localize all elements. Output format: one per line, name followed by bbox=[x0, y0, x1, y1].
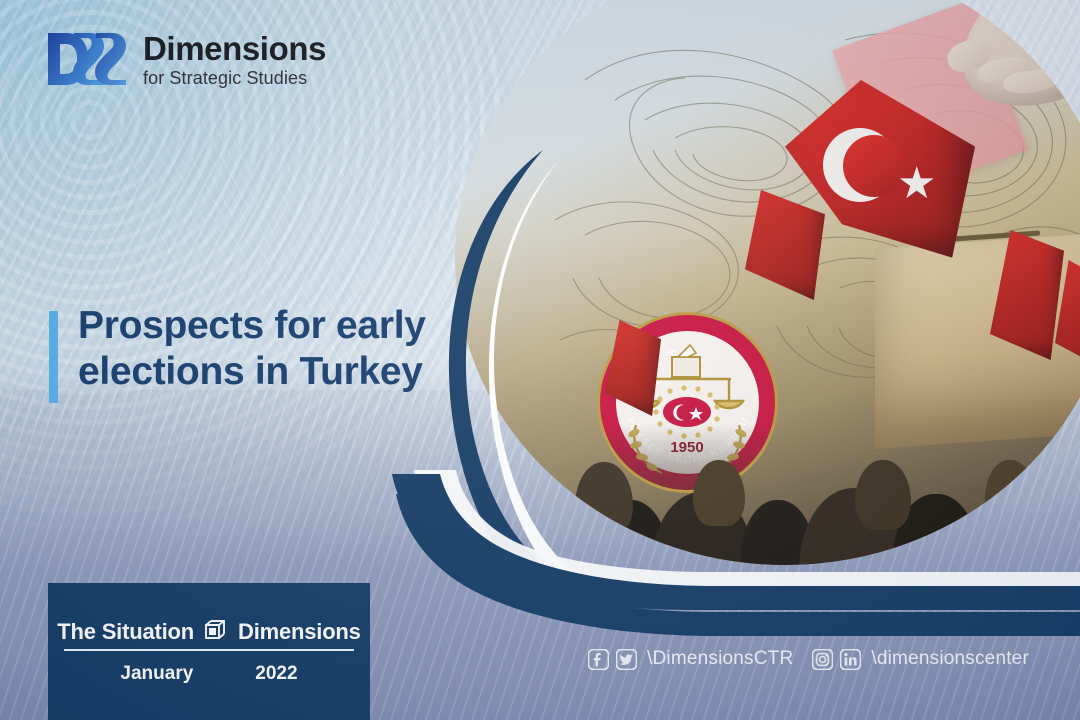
poster-canvas: T.C. YÜKSEK SEÇIM KURULU bbox=[0, 0, 1080, 720]
vignette-overlay bbox=[0, 0, 1080, 720]
